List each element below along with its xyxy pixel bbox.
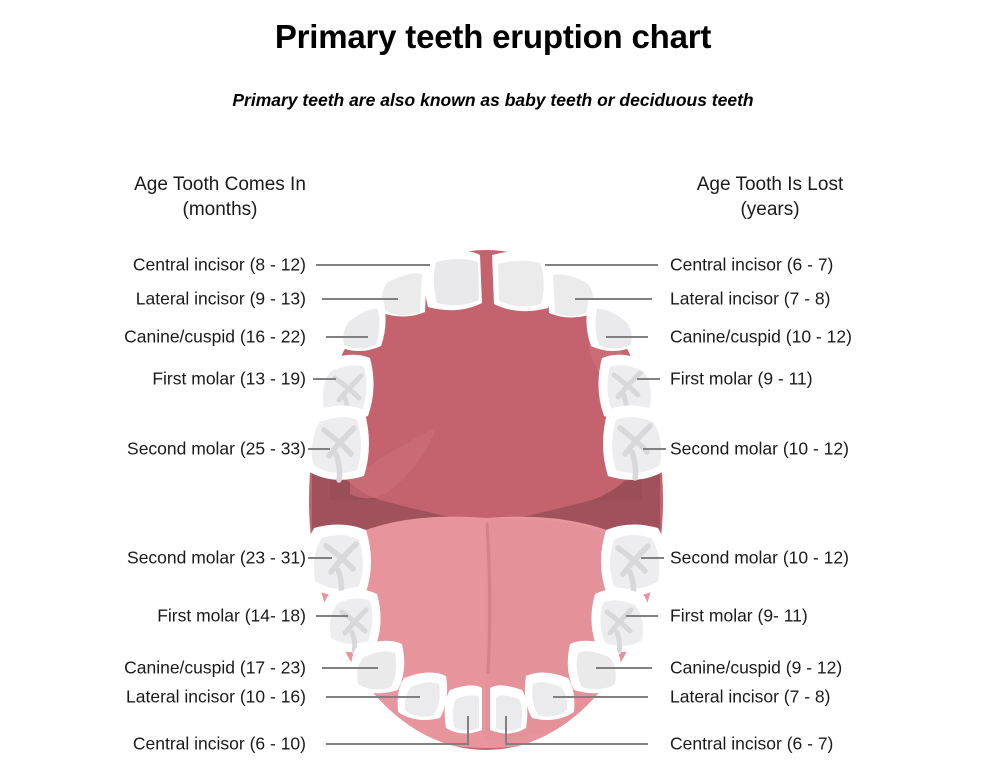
- tooth-upper-first-molar-right: [598, 355, 658, 420]
- tooth-upper-lateral-incisor-right: [547, 262, 601, 317]
- tooth-label-right-2: Lateral incisor (7 - 8): [670, 290, 830, 308]
- column-header-erupt-unit: (months): [70, 197, 370, 222]
- tooth-lower-second-molar-right: [601, 524, 666, 596]
- column-header-shed-title: Age Tooth Is Lost: [697, 174, 843, 195]
- tooth-lower-first-molar-right: [591, 589, 651, 652]
- tooth-label-right-1: Central incisor (6 - 7): [670, 256, 833, 274]
- teeth-eruption-chart: Primary teeth eruption chart Primary tee…: [0, 0, 986, 778]
- tooth-label-left-1: Central incisor (8 - 12): [133, 256, 312, 274]
- tooth-label-right-4: First molar (9 - 11): [670, 370, 813, 388]
- tooth-upper-second-molar-left: [304, 405, 369, 480]
- tooth-upper-second-molar-right: [603, 405, 668, 479]
- tooth-lower-lateral-incisor-right: [525, 672, 575, 720]
- tooth-upper-canine-left: [336, 297, 386, 351]
- tooth-label-left-3: Canine/cuspid (16 - 22): [124, 328, 312, 346]
- tooth-label-left-5: Second molar (25 - 33): [127, 440, 312, 458]
- mouth-outline: [309, 250, 663, 750]
- page-title: Primary teeth eruption chart: [0, 18, 986, 56]
- palate-shade-left: [350, 428, 436, 498]
- throat-cavity: [312, 470, 660, 560]
- tooth-label-left-9: Lateral incisor (10 - 16): [126, 688, 312, 706]
- tooth-upper-central-incisor-left: [424, 250, 482, 310]
- tooth-label-left-10: Central incisor (6 - 10): [133, 735, 312, 753]
- column-header-erupt-title: Age Tooth Comes In: [134, 174, 306, 195]
- tongue-midline: [487, 524, 490, 672]
- tooth-lower-first-molar-left: [321, 589, 381, 652]
- tooth-label-right-10: Central incisor (6 - 7): [670, 735, 833, 753]
- palate-shade-right: [589, 330, 627, 406]
- page-subtitle: Primary teeth are also known as baby tee…: [0, 90, 986, 111]
- leader-right-10: [506, 716, 648, 744]
- tongue-shade: [486, 519, 645, 740]
- tooth-label-right-9: Lateral incisor (7 - 8): [670, 688, 830, 706]
- tooth-lower-central-incisor-right: [490, 685, 527, 733]
- tooth-upper-central-incisor-right: [492, 251, 552, 311]
- column-header-erupt: Age Tooth Comes In (months): [70, 172, 370, 222]
- tongue: [319, 517, 652, 748]
- tooth-upper-lateral-incisor-left: [373, 261, 427, 316]
- tooth-label-right-6: Second molar (10 - 12): [670, 549, 849, 567]
- column-header-shed: Age Tooth Is Lost (years): [620, 172, 920, 222]
- tooth-label-left-4: First molar (13 - 19): [152, 370, 312, 388]
- leader-left-10: [326, 716, 468, 744]
- upper-teeth: [304, 250, 668, 480]
- tooth-label-right-7: First molar (9- 11): [670, 607, 808, 625]
- tooth-label-right-8: Canine/cuspid (9 - 12): [670, 659, 842, 677]
- throat-highlight: [330, 478, 642, 522]
- tooth-label-left-6: Second molar (23 - 31): [127, 549, 312, 567]
- tooth-upper-first-molar-left: [314, 355, 374, 420]
- tooth-upper-canine-right: [586, 297, 636, 351]
- tooth-label-left-2: Lateral incisor (9 - 13): [136, 290, 312, 308]
- tooth-lower-second-molar-left: [306, 524, 371, 595]
- leader-lines: [308, 265, 666, 744]
- tooth-label-right-5: Second molar (10 - 12): [670, 440, 849, 458]
- tooth-label-left-8: Canine/cuspid (17 - 23): [124, 659, 312, 677]
- tooth-label-right-3: Canine/cuspid (10 - 12): [670, 328, 852, 346]
- tooth-label-left-7: First molar (14- 18): [157, 607, 312, 625]
- column-header-shed-unit: (years): [620, 197, 920, 222]
- tooth-lower-central-incisor-left: [445, 685, 482, 733]
- hard-palate: [322, 252, 651, 524]
- tooth-lower-lateral-incisor-left: [398, 672, 448, 720]
- tooth-lower-canine-right: [568, 641, 622, 693]
- lower-teeth: [306, 524, 666, 733]
- tooth-lower-canine-left: [351, 641, 405, 693]
